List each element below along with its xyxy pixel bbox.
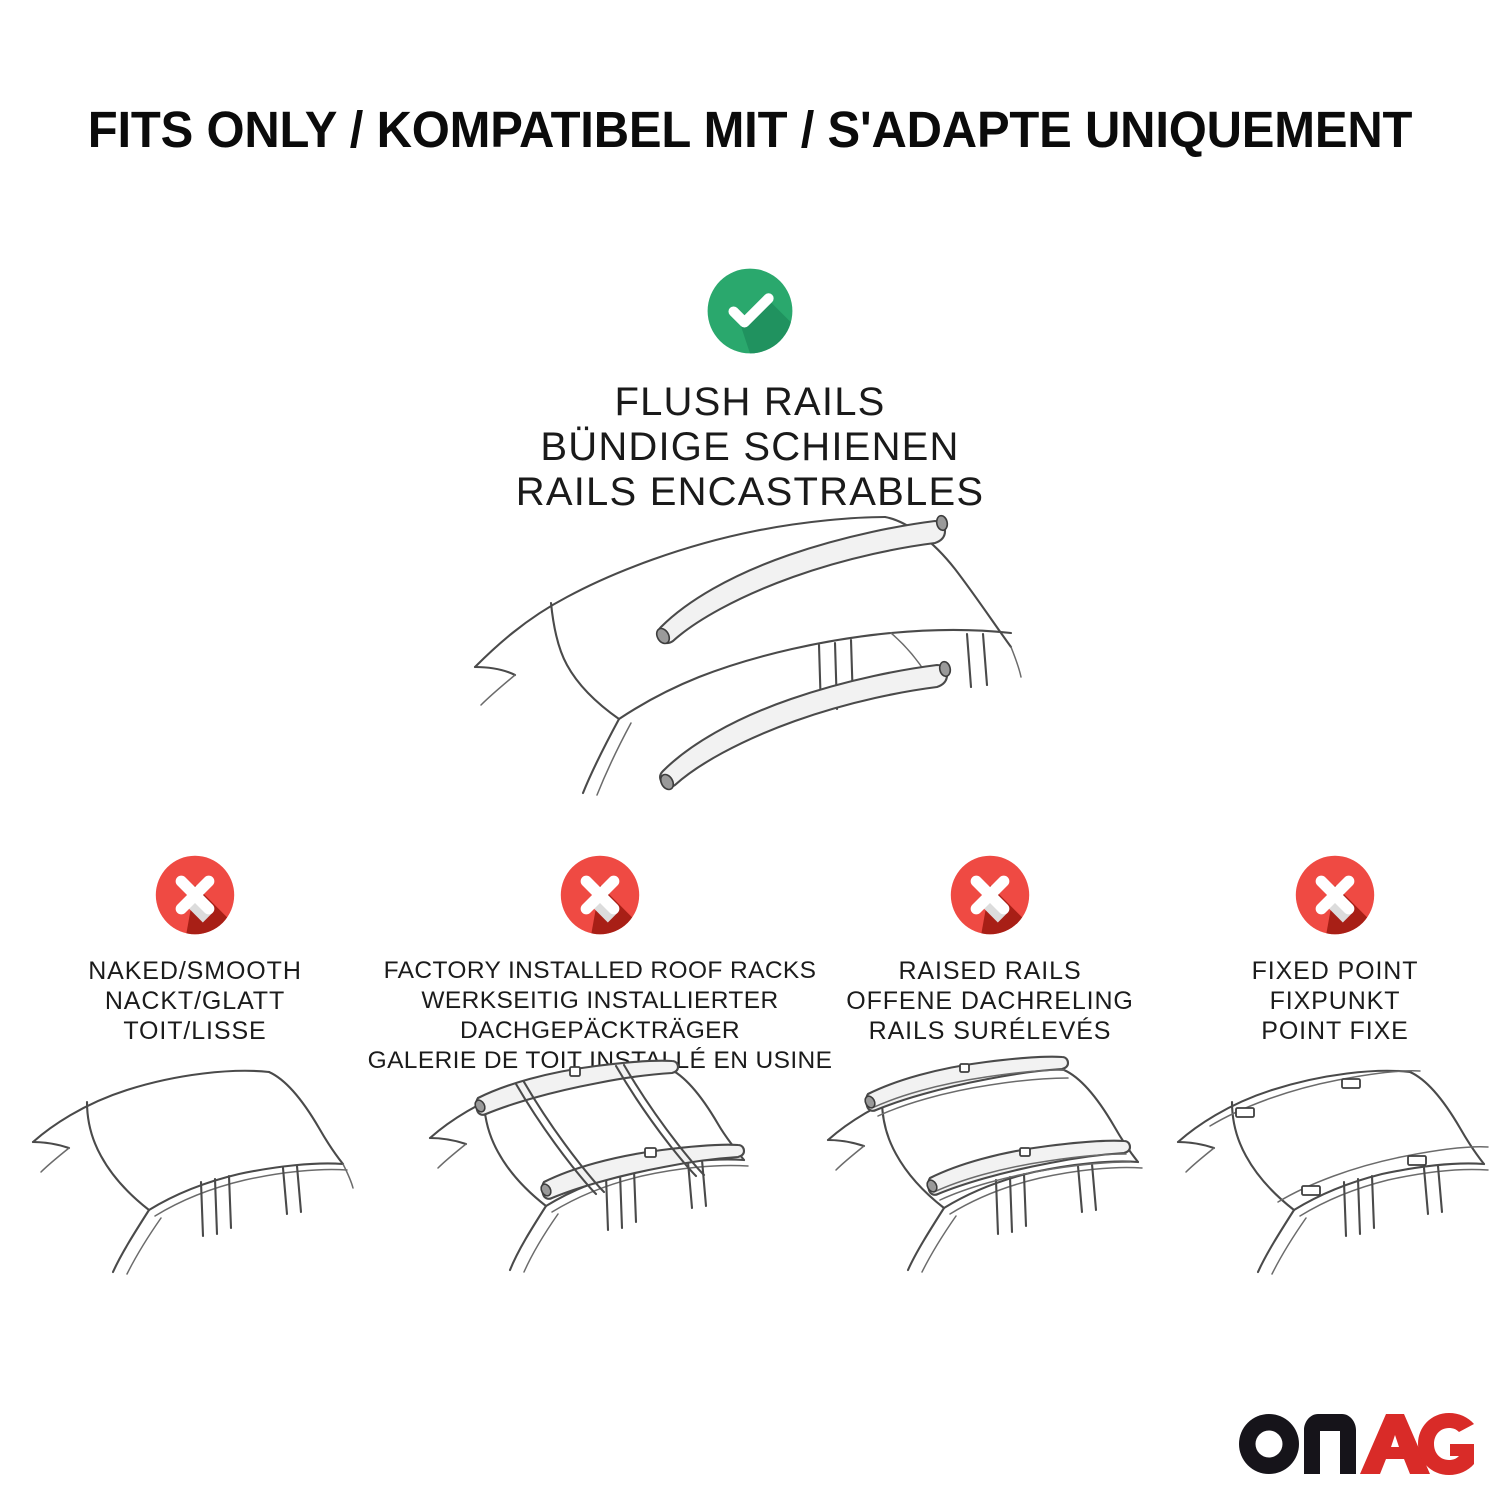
red-cross-circle-icon [941, 846, 1039, 944]
car-roof-with-flush-rails-illustration [455, 497, 1055, 797]
option-fixed-point: FIXED POINT FIXPUNKT POINT FIXE [1170, 846, 1500, 1046]
option-naked-smooth: NAKED/SMOOTH NACKT/GLATT TOIT/LISSE [0, 846, 390, 1046]
car-roof-with-fixed-points-illustration [1170, 1046, 1500, 1276]
label-en: NAKED/SMOOTH [88, 956, 302, 986]
label-de-line2: DACHGEPÄCKTRÄGER [368, 1016, 833, 1046]
page-header: FITS ONLY / KOMPATIBEL MIT / S'ADAPTE UN… [0, 104, 1500, 156]
page-title: FITS ONLY / KOMPATIBEL MIT / S'ADAPTE UN… [30, 104, 1470, 156]
car-roof-bare-illustration [0, 1046, 390, 1276]
compatible-labels: FLUSH RAILS BÜNDIGE SCHIENEN RAILS ENCAS… [0, 380, 1500, 515]
red-cross-circle-icon [1286, 846, 1384, 944]
car-roof-with-raised-rails-illustration [810, 1046, 1170, 1276]
flush-rails-label-en: FLUSH RAILS [0, 380, 1500, 425]
label-en: FACTORY INSTALLED ROOF RACKS [368, 956, 833, 986]
red-cross-circle-icon [551, 846, 649, 944]
label-en: RAISED RAILS [846, 956, 1134, 986]
option-labels: NAKED/SMOOTH NACKT/GLATT TOIT/LISSE [88, 956, 302, 1046]
label-de-line1: WERKSEITIG INSTALLIERTER [368, 986, 833, 1016]
label-de: FIXPUNKT [1252, 986, 1419, 1016]
label-de: OFFENE DACHRELING [846, 986, 1134, 1016]
omac-logo: OMAC [1238, 1412, 1474, 1476]
incompatible-illustrations-row [0, 1046, 1500, 1276]
label-en: FIXED POINT [1252, 956, 1419, 986]
option-labels: RAISED RAILS OFFENE DACHRELING RAILS SUR… [846, 956, 1134, 1046]
label-de: NACKT/GLATT [88, 986, 302, 1016]
red-cross-circle-icon [146, 846, 244, 944]
option-factory-installed-roof-racks: FACTORY INSTALLED ROOF RACKS WERKSEITIG … [390, 846, 810, 1076]
option-raised-rails: RAISED RAILS OFFENE DACHRELING RAILS SUR… [810, 846, 1170, 1046]
option-labels: FIXED POINT FIXPUNKT POINT FIXE [1252, 956, 1419, 1046]
flush-rails-label-de: BÜNDIGE SCHIENEN [0, 425, 1500, 470]
car-roof-with-rails-and-crossbars-illustration [390, 1046, 810, 1276]
label-fr: TOIT/LISSE [88, 1016, 302, 1046]
label-fr: RAILS SURÉLEVÉS [846, 1016, 1134, 1046]
compatible-section: FLUSH RAILS BÜNDIGE SCHIENEN RAILS ENCAS… [0, 258, 1500, 515]
incompatible-options-row: NAKED/SMOOTH NACKT/GLATT TOIT/LISSE FACT… [0, 846, 1500, 1076]
label-fr: POINT FIXE [1252, 1016, 1419, 1046]
green-check-circle-icon [697, 258, 803, 364]
